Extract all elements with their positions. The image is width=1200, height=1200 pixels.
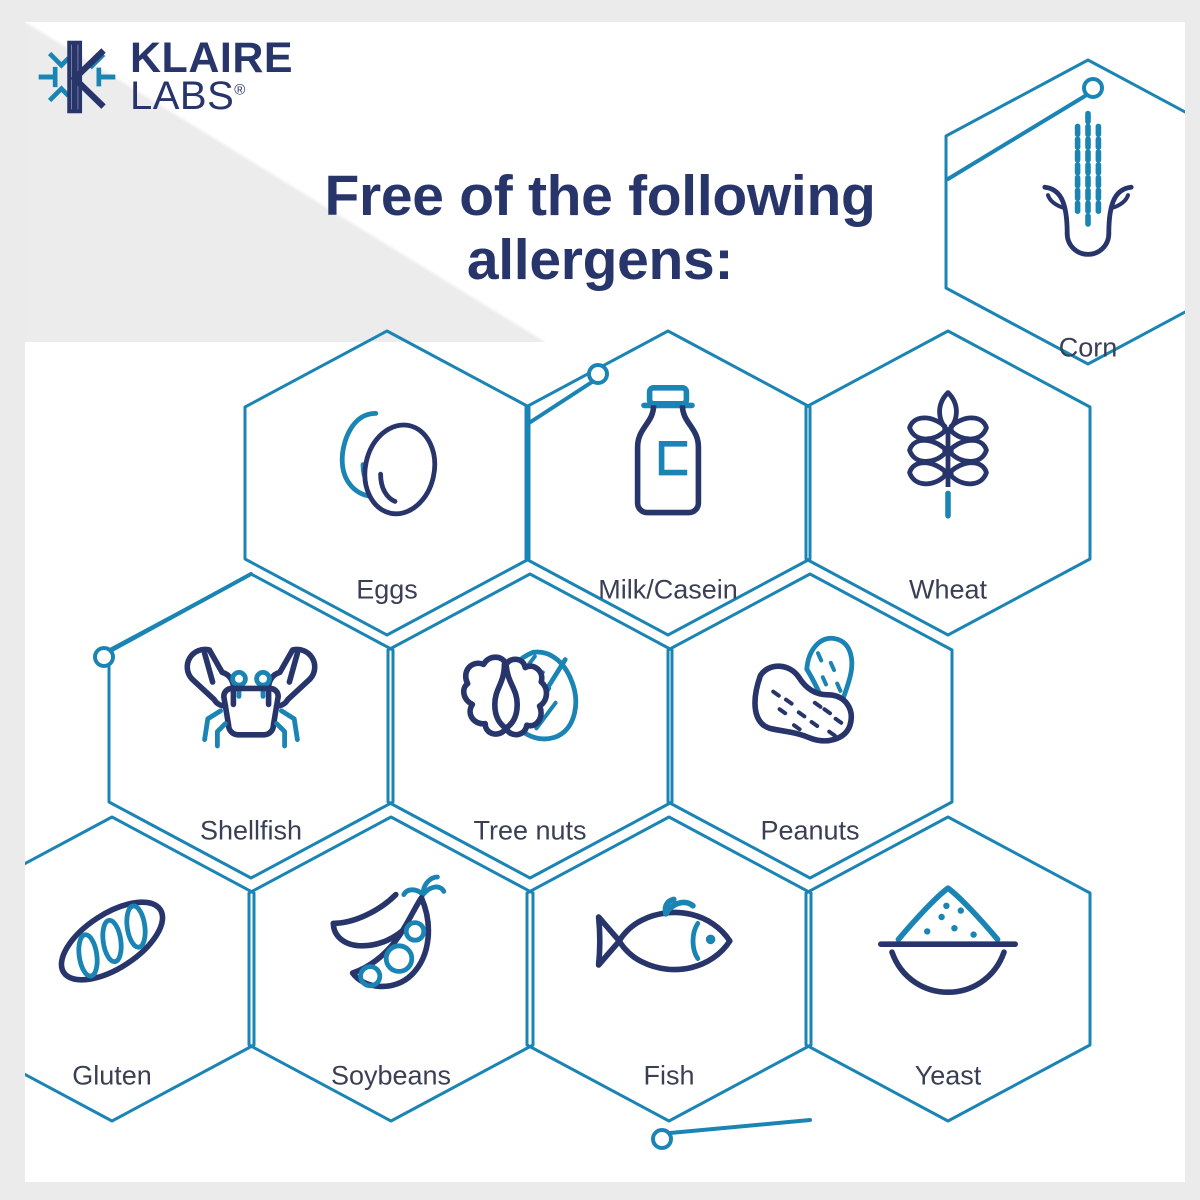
dot-left <box>95 648 113 666</box>
allergen-label-yeast: Yeast <box>915 1061 982 1092</box>
allergen-label-gluten: Gluten <box>72 1061 152 1092</box>
allergen-label-wheat: Wheat <box>909 575 987 606</box>
dot-top-right <box>1084 79 1102 97</box>
tree-nuts-icon <box>464 647 581 744</box>
corn-icon <box>1045 114 1131 255</box>
milk-bottle-icon <box>638 388 699 513</box>
allergen-label-soybeans: Soybeans <box>331 1061 451 1092</box>
crab-icon <box>187 649 314 746</box>
bread-loaf-icon <box>49 887 175 995</box>
page-title: Free of the following allergens: <box>200 165 1000 293</box>
wheat-icon <box>910 393 987 516</box>
logo-text-labs: LABS® <box>130 78 293 115</box>
klaire-k-snowflake-logo-icon <box>38 38 116 116</box>
eggs-icon <box>342 413 443 520</box>
allergen-label-fish: Fish <box>643 1061 694 1092</box>
logo-text-klaire: KLAIRE <box>130 39 293 79</box>
dot-bottom <box>653 1130 671 1148</box>
brand-logo: KLAIRE LABS® <box>38 38 293 116</box>
peanuts-icon <box>755 638 852 740</box>
yeast-bowl-icon <box>881 888 1015 992</box>
infographic-stage: KLAIRE LABS® Free of the following aller… <box>0 0 1200 1200</box>
allergen-label-eggs: Eggs <box>356 575 418 606</box>
fish-icon <box>599 899 730 969</box>
allergen-label-peanuts: Peanuts <box>760 816 859 847</box>
soybean-pod-icon <box>333 877 443 986</box>
allergen-label-corn: Corn <box>1059 333 1118 364</box>
registered-mark: ® <box>234 82 246 99</box>
dot-eggs-right <box>589 365 607 383</box>
allergen-label-shellfish: Shellfish <box>200 816 302 847</box>
allergen-label-milk: Milk/Casein <box>598 575 738 606</box>
allergen-label-treenuts: Tree nuts <box>473 816 586 847</box>
